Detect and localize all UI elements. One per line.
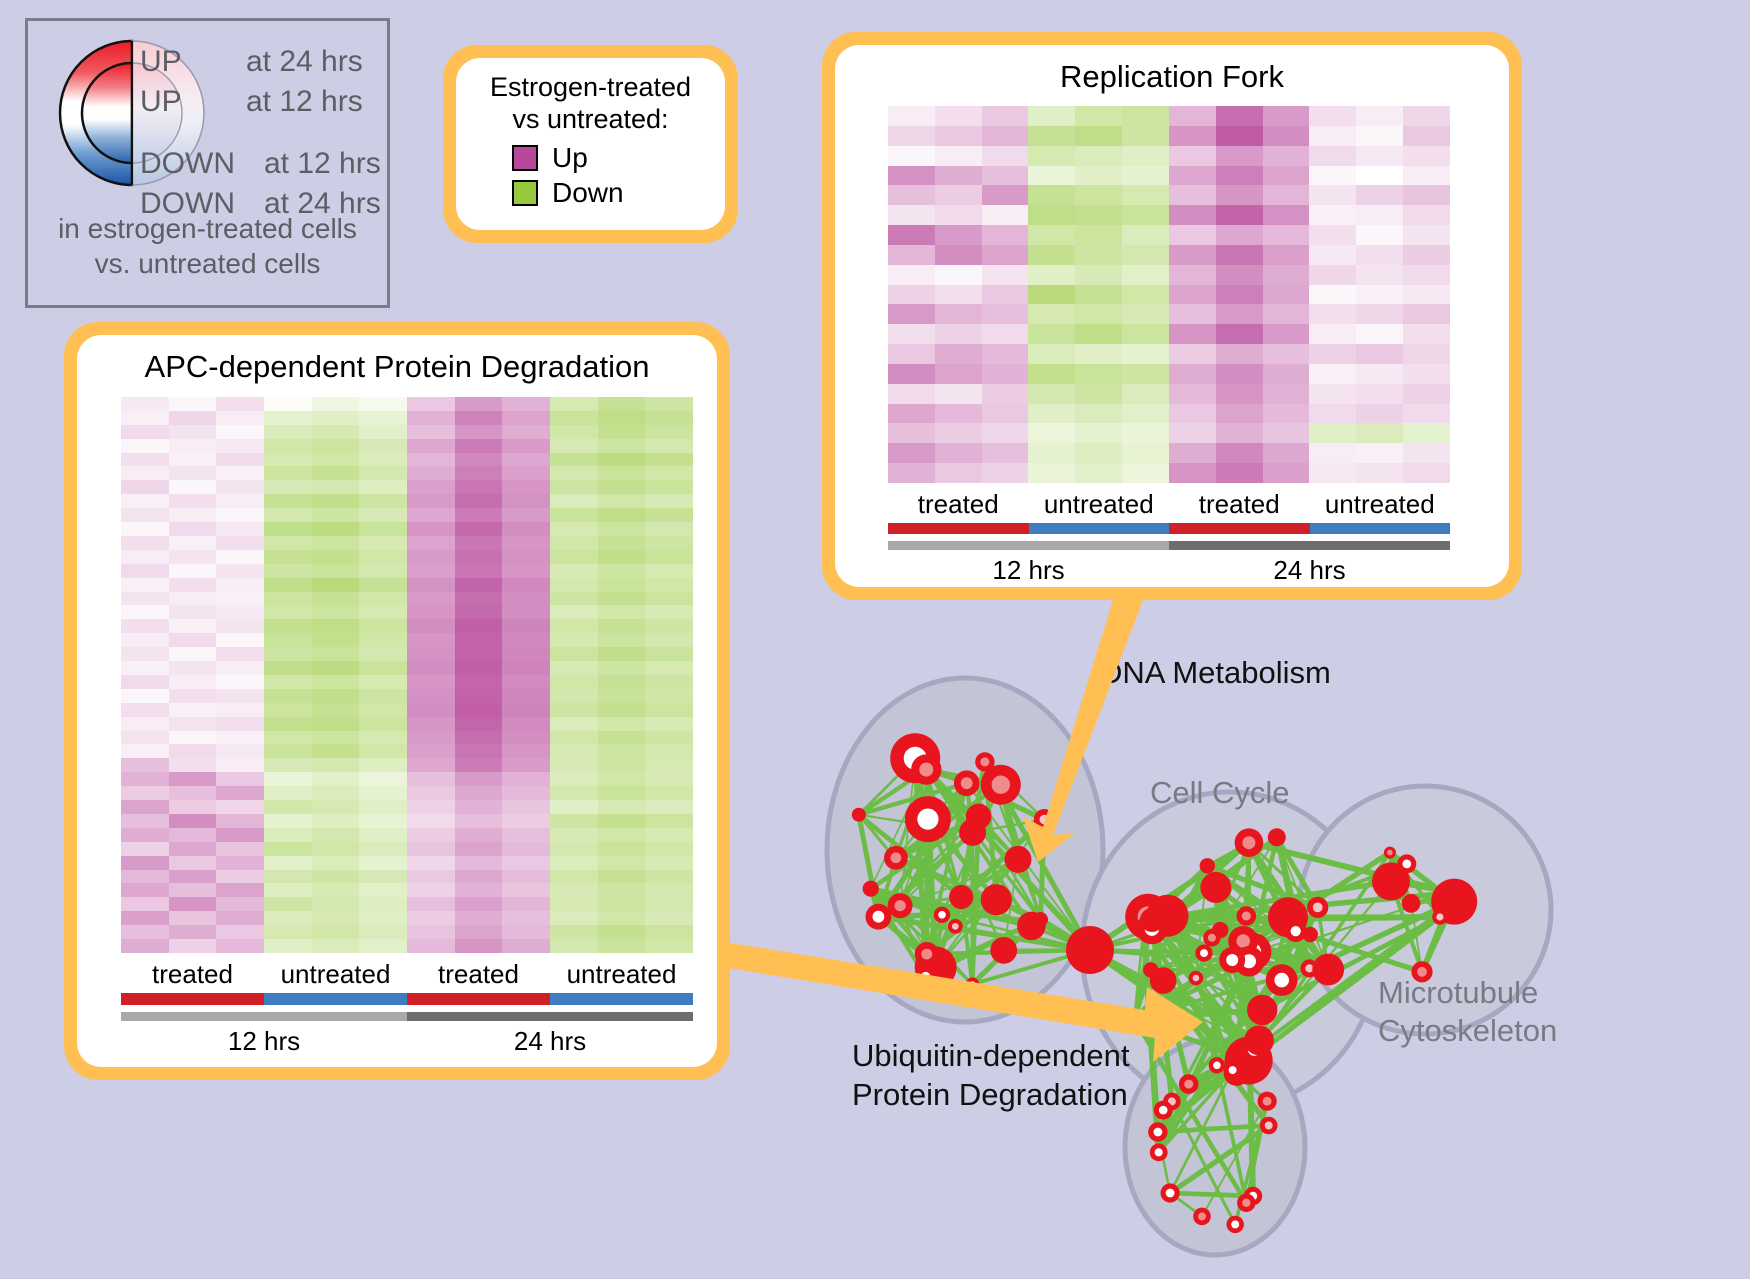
heatmap-cell [407,661,455,675]
heatmap-cell [121,522,169,536]
heatmap-cell [407,480,455,494]
network-label-cytoskeleton: Cytoskeleton [1378,1013,1557,1049]
heatmap-cell [455,619,503,633]
network-node [1140,908,1164,932]
heatmap-cell [407,772,455,786]
network-node [1312,954,1344,986]
heatmap-cell [264,925,312,939]
heatmap-cell [216,911,264,925]
heatmap-cell [1028,185,1075,205]
heatmap-cell [1216,285,1263,305]
heatmap-replication-fork [888,106,1450,483]
heatmap-cell [645,744,693,758]
heatmap-cell [935,106,982,126]
heatmap-cell [169,453,217,467]
heatmap-cell [1169,463,1216,483]
heatmap-cell [121,494,169,508]
heatmap-cell [645,564,693,578]
heatmap-cell [935,225,982,245]
heatmap-cell [407,647,455,661]
heatmap-cell [121,758,169,772]
heatmap-cell [550,870,598,884]
heatmap-cell [645,897,693,911]
heatmap-cell [645,466,693,480]
heatmap-cell [1169,344,1216,364]
heatmap-cell [312,633,360,647]
heatmap-cell [359,480,407,494]
heatmap-cell [982,463,1029,483]
heatmap-cell [598,397,646,411]
heatmap-cell [169,800,217,814]
heatmap-cell [598,411,646,425]
heatmap-cell [169,522,217,536]
heatmap-cell [645,647,693,661]
heatmap-cell [598,494,646,508]
heatmap-cell [216,703,264,717]
heatmap-cell [1216,344,1263,364]
heatmap-cell [502,842,550,856]
heatmap-cell [1403,185,1450,205]
heatmap-cell [121,578,169,592]
heatmap-cell [935,126,982,146]
heatmap-cell [359,522,407,536]
heatmap-cell [888,146,935,166]
heatmap-cell [359,494,407,508]
heatmap-cell [502,911,550,925]
heatmap-cell [1216,146,1263,166]
heatmap-cell [645,703,693,717]
heatmap-cell [1169,146,1216,166]
heatmap-cell [550,717,598,731]
heatmap-cell [455,689,503,703]
heatmap-cell [1169,106,1216,126]
legend-title-line2: vs untreated: [456,104,725,136]
heatmap-cell [982,146,1029,166]
heatmap-cell [550,536,598,550]
heatmap-cell [888,285,935,305]
heatmap-cell [1356,245,1403,265]
heatmap-cell [359,397,407,411]
network-node-core [1436,913,1443,920]
heatmap-cell [1075,423,1122,443]
heatmap-cell [407,758,455,772]
heatmap-cell [169,786,217,800]
axis-group-bar-untreated-24 [1310,523,1451,534]
heatmap-cell [1403,443,1450,463]
heatmap-cell [502,772,550,786]
pathway-network-diagram: DNA Metabolism Cell Cycle Microtubule Cy… [800,620,1750,1279]
heatmap-cell [407,466,455,480]
heatmap-cell [598,717,646,731]
heatmap-cell [407,564,455,578]
axis-group-label-0: treated [121,959,264,990]
heatmap-cell [1122,185,1169,205]
heatmap-cell [169,939,217,953]
heatmap-cell [550,508,598,522]
heatmap-cell [1403,324,1450,344]
network-node-core [921,949,932,960]
heatmap-cell [502,522,550,536]
heatmap-cell [407,689,455,703]
network-node-core [1159,1106,1168,1115]
heatmap-cell [312,453,360,467]
network-node [1244,1026,1274,1056]
network-node-core [1154,1128,1163,1137]
network-label-protein-degradation: Protein Degradation [852,1077,1128,1113]
heatmap-cell [1216,126,1263,146]
heatmap-cell [982,364,1029,384]
heatmap-cell [121,870,169,884]
heatmap-cell [888,304,935,324]
network-node-core [1226,954,1238,966]
heatmap-cell [455,578,503,592]
network-node-core [1242,836,1255,849]
heatmap-cell [598,619,646,633]
heatmap-cell [1263,344,1310,364]
heatmap-cell [550,744,598,758]
heatmap-cell [216,536,264,550]
heatmap-cell [1028,205,1075,225]
heatmap-cell [169,494,217,508]
heatmap-cell [502,883,550,897]
heatmap-cell [645,925,693,939]
heatmap-cell [1075,463,1122,483]
legend-item-up: Up [512,142,725,174]
heatmap-cell [645,453,693,467]
heatmap-cell [935,404,982,424]
heatmap-cell [121,828,169,842]
heatmap-cell [1356,285,1403,305]
heatmap-cell [264,508,312,522]
axis-group-label-3: untreated [1310,489,1451,520]
heatmap-cell [645,814,693,828]
heatmap-cell [502,480,550,494]
heatmap-cell [645,911,693,925]
heatmap-cell [598,731,646,745]
heatmap-cell [645,731,693,745]
heatmap-cell [1028,463,1075,483]
heatmap-cell [645,786,693,800]
heatmap-cell [121,480,169,494]
heatmap-cell [455,480,503,494]
heatmap-cell [169,578,217,592]
network-node-core [1213,1062,1221,1070]
heatmap-cell [550,578,598,592]
heatmap-cell [1263,166,1310,186]
heatmap-cell [1263,245,1310,265]
heatmap-cell [1122,404,1169,424]
axis-group-label-1: untreated [264,959,407,990]
network-node-core [1208,934,1216,942]
heatmap-cell [1028,304,1075,324]
heatmap-cell [216,842,264,856]
heatmap-cell [169,633,217,647]
heatmap-cell [888,205,935,225]
heatmap-cell [1122,324,1169,344]
heatmap-cell [121,453,169,467]
heatmap-cell [407,411,455,425]
heatmap-cell [1263,463,1310,483]
heatmap-cell [550,883,598,897]
heatmap-cell [312,647,360,661]
heatmap-cell [550,439,598,453]
heatmap-cell [1403,245,1450,265]
heatmap-cell [1403,463,1450,483]
heatmap-cell [407,883,455,897]
heatmap-cell [264,911,312,925]
heatmap-cell [502,633,550,647]
network-node [1247,995,1277,1025]
heatmap-cell [1169,185,1216,205]
heatmap-cell [216,939,264,953]
heatmap-cell [598,647,646,661]
heatmap-cell [121,466,169,480]
heatmap-cell [169,856,217,870]
heatmap-cell [1075,205,1122,225]
heatmap-cell [264,870,312,884]
heatmap-cell [359,717,407,731]
heatmap-cell [359,786,407,800]
heatmap-cell [121,633,169,647]
heatmap-cell [312,731,360,745]
heatmap-cell [1122,245,1169,265]
axis-time-label-24hrs: 24 hrs [1169,555,1450,586]
heatmap-cell [216,661,264,675]
heatmap-cell [1356,225,1403,245]
heatmap-cell [312,828,360,842]
heatmap-cell [1075,285,1122,305]
heatmap-cell [1216,225,1263,245]
heatmap-cell [312,744,360,758]
heatmap-cell [502,939,550,953]
heatmap-cell [455,842,503,856]
heatmap-cell [169,772,217,786]
heatmap-cell [359,800,407,814]
heatmap-cell [312,508,360,522]
axis-time-labels-replication-fork: 12 hrs 24 hrs [888,555,1450,586]
heatmap-cell [1263,146,1310,166]
heatmap-cell [888,185,935,205]
heatmap-cell [1263,126,1310,146]
heatmap-cell [455,814,503,828]
heatmap-cell [169,564,217,578]
heatmap-cell [359,925,407,939]
heatmap-cell [982,106,1029,126]
heatmap-cell [455,466,503,480]
heatmap-cell [455,925,503,939]
heatmap-cell [1216,185,1263,205]
heatmap-cell [935,324,982,344]
heatmap-cell [502,550,550,564]
heatmap-cell [1309,106,1356,126]
heatmap-cell [264,731,312,745]
axis-group-label-0: treated [888,489,1029,520]
heatmap-cell [407,828,455,842]
heatmap-cell [888,423,935,443]
heatmap-cell [1356,443,1403,463]
heatmap-cell [1216,364,1263,384]
heatmap-cell [1169,423,1216,443]
color-key-time-down-12: at 12 hrs [264,147,381,181]
heatmap-cell [888,463,935,483]
heatmap-cell [1403,225,1450,245]
heatmap-cell [455,856,503,870]
heatmap-cell [455,786,503,800]
heatmap-cell [1169,126,1216,146]
heatmap-cell [502,925,550,939]
network-node-core [1229,1066,1237,1074]
heatmap-cell [550,397,598,411]
heatmap-cell [1216,205,1263,225]
heatmap-cell [550,661,598,675]
network-node-core [1291,926,1301,936]
heatmap-cell [121,439,169,453]
network-node [1150,967,1177,994]
heatmap-cell [169,605,217,619]
network-node-core [921,972,931,982]
heatmap-cell [502,800,550,814]
heatmap-cell [455,758,503,772]
heatmap-cell [312,939,360,953]
heatmap-cell [1309,166,1356,186]
legend-item-down: Down [512,177,725,209]
heatmap-cell [598,592,646,606]
heatmap-cell [121,786,169,800]
heatmap-cell [121,717,169,731]
heatmap-cell [407,619,455,633]
heatmap-cell [264,828,312,842]
heatmap-cell [455,425,503,439]
network-node [1268,828,1286,846]
axis-time-label-12hrs: 12 hrs [121,1026,407,1057]
heatmap-cell [1263,304,1310,324]
heatmap-cell [1122,106,1169,126]
heatmap-cell [1028,285,1075,305]
color-key-time-up-24: at 24 hrs [246,45,363,79]
heatmap-apc-dependent-protein-degradation [121,397,693,953]
heatmap-cell [455,633,503,647]
heatmap-cell [312,842,360,856]
heatmap-cell [502,425,550,439]
heatmap-cell [359,842,407,856]
axis-group-bar-untreated-24 [550,993,693,1005]
heatmap-cell [407,897,455,911]
heatmap-cell [502,536,550,550]
heatmap-cell [264,744,312,758]
heatmap-cell [502,578,550,592]
heatmap-cell [550,592,598,606]
heatmap-cell [982,404,1029,424]
heatmap-cell [502,689,550,703]
legend-label-down: Down [552,177,624,209]
heatmap-cell [888,443,935,463]
color-key-direction-up-12: UP [140,85,182,119]
heatmap-cell [169,703,217,717]
heatmap-cell [455,453,503,467]
heatmap-cell [502,897,550,911]
heatmap-cell [888,126,935,146]
heatmap-cell [502,828,550,842]
heatmap-cell [598,703,646,717]
heatmap-cell [359,911,407,925]
heatmap-cell [121,411,169,425]
heatmap-cell [598,772,646,786]
heatmap-cell [264,411,312,425]
heatmap-cell [169,675,217,689]
heatmap-cell [169,842,217,856]
heatmap-cell [502,856,550,870]
heatmap-cell [1169,205,1216,225]
heatmap-cell [312,911,360,925]
heatmap-cell [645,939,693,953]
heatmap-cell [169,689,217,703]
heatmap-cell [550,605,598,619]
heatmap-cell [1075,166,1122,186]
heatmap-cell [645,828,693,842]
heatmap-cell [935,245,982,265]
heatmap-cell [121,772,169,786]
axis-group-bar-replication-fork [888,523,1450,534]
heatmap-cell [1309,463,1356,483]
heatmap-cell [598,550,646,564]
heatmap-cell [121,564,169,578]
heatmap-cell [121,605,169,619]
heatmap-cell [502,508,550,522]
legend-title-line1: Estrogen-treated [456,72,725,104]
heatmap-cell [359,661,407,675]
heatmap-cell [216,439,264,453]
heatmap-cell [1122,126,1169,146]
heatmap-cell [216,480,264,494]
heatmap-cell [216,425,264,439]
heatmap-cell [888,225,935,245]
heatmap-cell [598,522,646,536]
heatmap-cell [1028,126,1075,146]
heatmap-cell [455,939,503,953]
heatmap-cell [359,592,407,606]
heatmap-cell [216,578,264,592]
heatmap-cell [264,633,312,647]
heatmap-cell [455,397,503,411]
axis-time-bar-apc [121,1012,693,1021]
heatmap-cell [216,411,264,425]
heatmap-cell [550,480,598,494]
network-node [1066,926,1114,974]
heatmap-cell [598,828,646,842]
heatmap-cell [888,324,935,344]
heatmap-cell [935,423,982,443]
heatmap-cell [1028,443,1075,463]
heatmap-cell [264,856,312,870]
heatmap-cell [1356,324,1403,344]
heatmap-cell [216,494,264,508]
network-label-dna-metabolism: DNA Metabolism [1100,655,1331,691]
heatmap-cell [645,536,693,550]
network-node-core [1040,815,1050,825]
network-node [1303,927,1318,942]
heatmap-cell [935,185,982,205]
network-node [852,808,866,822]
heatmap-cell [1263,324,1310,344]
heatmap-cell [888,384,935,404]
heatmap-cell [1169,404,1216,424]
axis-group-bar-untreated-12 [1029,523,1170,534]
heatmap-cell [1122,443,1169,463]
network-node-core [1198,1212,1206,1220]
heatmap-cell [121,731,169,745]
heatmap-cell [407,425,455,439]
heatmap-cell [1169,166,1216,186]
